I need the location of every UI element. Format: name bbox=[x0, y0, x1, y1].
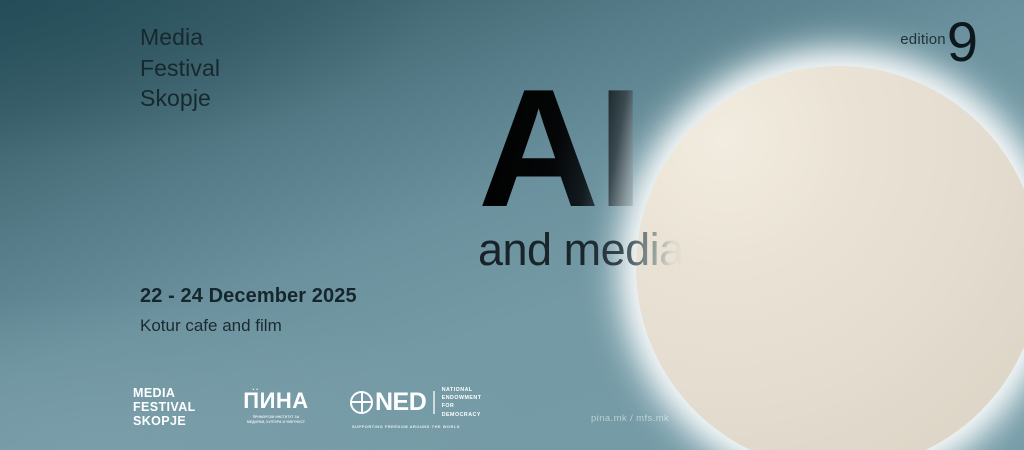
ned-tagline: NATIONAL ENDOWMENT FOR DEMOCRACY bbox=[442, 386, 482, 419]
festival-name: Media Festival Skopje bbox=[140, 22, 220, 114]
ned-footer-tagline: SUPPORTING FREEDOM AROUND THE WORLD bbox=[352, 424, 482, 429]
pina-wordmark: ·· ПИНА bbox=[243, 390, 308, 412]
festival-name-line-3: Skopje bbox=[140, 83, 220, 114]
festival-poster: Media Festival Skopje edition 9 AI and m… bbox=[0, 0, 1024, 450]
event-date: 22 - 24 December 2025 bbox=[140, 285, 357, 308]
mfs-logo-line-1: MEDIA bbox=[133, 386, 207, 400]
pina-subtitle: ПРИМОРСКИ ИНСТИТУТ ЗА МЕДИУМИ, КУЛТУРА И… bbox=[247, 415, 305, 424]
edition-label: edition bbox=[900, 18, 946, 48]
ned-tagline-line-4: DEMOCRACY bbox=[442, 411, 482, 419]
headline-subtitle: and media bbox=[478, 227, 684, 272]
logo-media-festival-skopje: MEDIA FESTIVAL SKOPJE bbox=[133, 386, 207, 428]
logo-ned: NED NATIONAL ENDOWMENT FOR DEMOCRACY SUP… bbox=[350, 386, 482, 429]
partner-logos: MEDIA FESTIVAL SKOPJE ·· ПИНА ПРИМОРСКИ … bbox=[133, 386, 482, 429]
website-urls: pina.mk / mfs.mk bbox=[591, 413, 669, 424]
pina-subtitle-line-2: МЕДИУМИ, КУЛТУРА И УМЕТНОСТ bbox=[247, 420, 305, 425]
ned-tagline-line-3: FOR bbox=[442, 402, 482, 410]
ned-logo-row: NED NATIONAL ENDOWMENT FOR DEMOCRACY bbox=[350, 386, 482, 419]
ned-tagline-line-1: NATIONAL bbox=[442, 386, 482, 394]
headline-block: AI and media bbox=[478, 76, 808, 272]
globe-icon bbox=[350, 391, 373, 414]
mfs-logo-line-2: FESTIVAL bbox=[133, 400, 207, 414]
edition-number: 9 bbox=[947, 18, 978, 66]
festival-name-line-1: Media bbox=[140, 22, 220, 53]
edition-badge: edition 9 bbox=[900, 18, 978, 66]
mfs-logo-line-3: SKOPJE bbox=[133, 414, 207, 428]
event-details: 22 - 24 December 2025 Kotur cafe and fil… bbox=[140, 285, 357, 336]
festival-name-line-2: Festival bbox=[140, 53, 220, 84]
ned-divider bbox=[433, 391, 434, 414]
pina-diacritic-icon: ·· bbox=[252, 386, 259, 394]
ned-tagline-line-2: ENDOWMENT bbox=[442, 394, 482, 402]
headline-title: AI bbox=[478, 76, 642, 220]
ned-wordmark: NED bbox=[375, 390, 426, 415]
event-venue: Kotur cafe and film bbox=[140, 316, 357, 336]
logo-pina: ·· ПИНА ПРИМОРСКИ ИНСТИТУТ ЗА МЕДИУМИ, К… bbox=[242, 390, 310, 424]
